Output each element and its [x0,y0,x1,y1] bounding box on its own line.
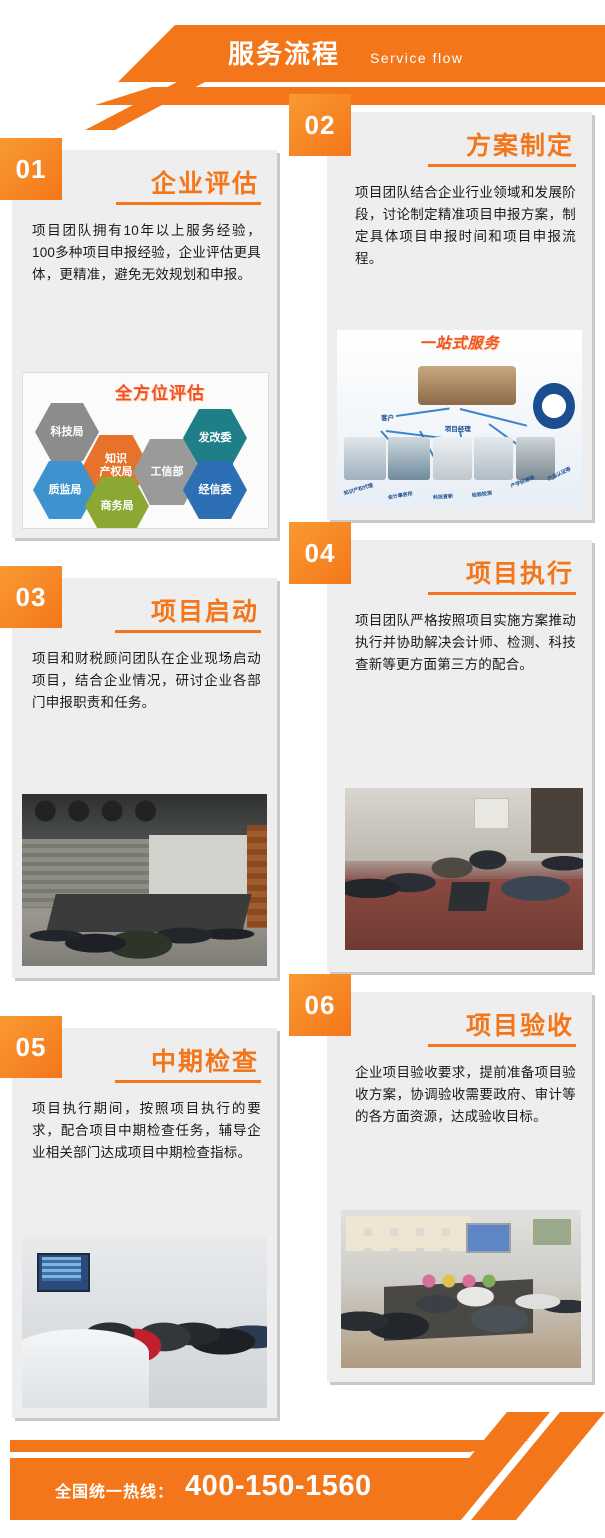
step-number-badge-02: 02 [289,94,351,156]
step-card-05[interactable]: 05 中期检查 项目执行期间，按照项目执行的要求，配合项目中期检查任务，辅导企业… [12,1028,277,1418]
one-stop-node-1 [344,437,386,480]
step-body-04: 项目团队严格按照项目实施方案推动执行并协助解决会计师、检测、科技查新等更方面第三… [355,610,576,676]
step-card-03[interactable]: 03 项目启动 项目和财税顾问团队在企业现场启动项目，结合企业情况，研讨企业各部… [12,578,277,978]
title-underline-04 [428,592,576,595]
step-number-badge-05: 05 [0,1016,62,1078]
title-underline-05 [115,1080,261,1083]
title-underline-03 [115,630,261,633]
step-title-02: 方案制定 [466,126,574,162]
one-stop-node-4 [474,437,513,480]
title-underline-01 [116,202,261,205]
one-stop-node-label-3: 科技查新 [432,493,452,501]
one-stop-arrow-1 [396,408,450,417]
page-subtitle: Service flow [370,43,463,73]
step-title-03: 项目启动 [151,592,259,628]
step-body-05: 项目执行期间，按照项目执行的要求，配合项目中期检查任务，辅导企业相关部门达成项目… [32,1098,261,1164]
hex-diagram-title: 全方位评估 [115,379,205,404]
one-stop-label-customer: 客户 [381,412,394,422]
step-number-badge-01: 01 [0,138,62,200]
step-number-badge-04: 04 [289,522,351,584]
step-card-06[interactable]: 06 项目验收 企业项目验收要求，提前准备项目验收方案，协调验收需要政府、审计等… [327,992,592,1382]
one-stop-node-label-4: 检验检测 [471,490,492,499]
step-title-05: 中期检查 [151,1042,259,1078]
one-stop-title: 一站式服务 [419,332,499,353]
hotline-phone[interactable]: 400-150-1560 [185,1470,372,1503]
step-body-02: 项目团队结合企业行业领域和发展阶段，讨论制定精准项目申报方案，制定具体项目申报时… [355,182,576,270]
one-stop-node-2 [388,437,430,480]
meeting-desks-photo [345,788,583,950]
step-body-06: 企业项目验收要求，提前准备项目验收方案，协调验收需要政府、审计等的各方面资源，达… [355,1062,576,1128]
step-body-01: 项目团队拥有10年以上服务经验，100多种项目申报经验，企业评估更具体，更精准，… [32,220,261,286]
step-number-badge-06: 06 [289,974,351,1036]
hex-diagram: 全方位评估 科技局 知识 产权局 质监局 工信部 商务局 发改委 经信委 [22,372,269,529]
step-card-04[interactable]: 04 项目执行 项目团队严格按照项目实施方案推动执行并协助解决会计师、检测、科技… [327,540,592,972]
page-footer: 全国统一热线： 400-150-1560 [0,1400,605,1538]
hotline-label: 全国统一热线： [55,1478,174,1502]
one-stop-label-manager: 项目经理 [445,423,471,433]
one-stop-node-label-2: 会计事务所 [388,490,414,501]
one-stop-node-label-1: 知识产权代理 [343,482,374,497]
hex-node-keji: 科技局 [35,403,99,461]
one-stop-service-diagram: 一站式服务 客户 项目经理 知识产权代理 会计事务所 科技查新 检验检测 产学研… [337,330,582,508]
iso-seal-icon: ISO [533,383,575,429]
step-title-01: 企业评估 [151,164,259,200]
title-underline-06 [428,1044,576,1047]
one-stop-node-3 [433,437,472,480]
boardroom-photo [341,1210,581,1368]
lobby-reception-photo [22,1236,267,1408]
one-stop-node-5 [516,437,555,480]
page-title: 服务流程 [228,34,340,74]
step-card-02[interactable]: 02 方案制定 项目团队结合企业行业领域和发展阶段，讨论制定精准项目申报方案，制… [327,112,592,520]
title-underline-02 [428,164,576,167]
step-title-04: 项目执行 [466,554,574,590]
service-flow-infographic: 服务流程 Service flow 01 企业评估 项目团队拥有10年以上服务经… [0,0,605,1538]
step-card-01[interactable]: 01 企业评估 项目团队拥有10年以上服务经验，100多种项目申报经验，企业评估… [12,150,277,538]
step-number-badge-03: 03 [0,566,62,628]
step-title-06: 项目验收 [466,1006,574,1042]
one-stop-center-photo [418,366,516,405]
step-body-03: 项目和财税顾问团队在企业现场启动项目，结合企业情况，研讨企业各部门申报职责和任务… [32,648,261,714]
conference-room-photo [22,794,267,966]
